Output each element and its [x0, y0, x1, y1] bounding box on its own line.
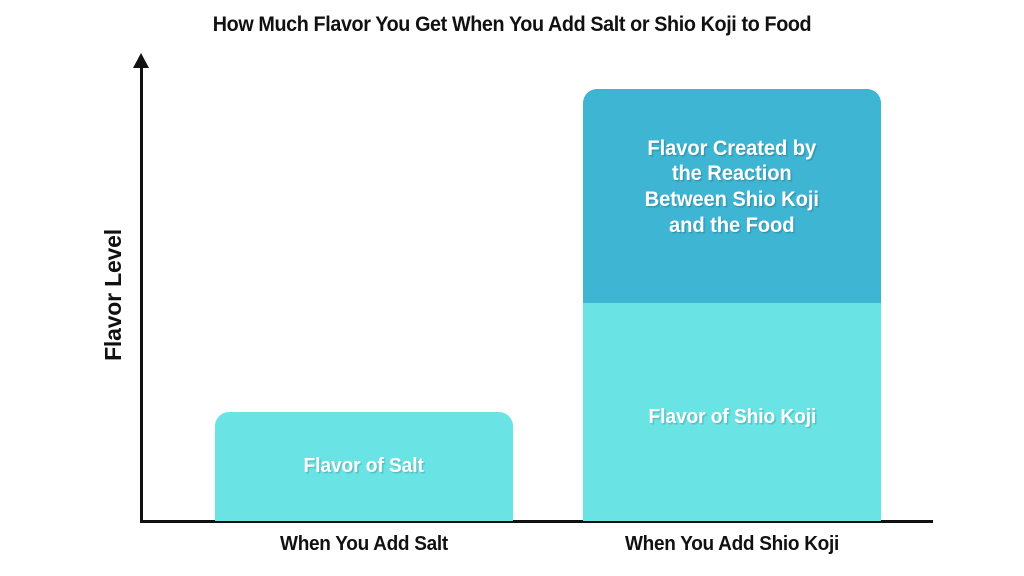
- reaction-label-line-4: and the Food: [645, 213, 819, 239]
- x-axis-label-shio-koji: When You Add Shio Koji: [590, 533, 873, 556]
- chart-title: How Much Flavor You Get When You Add Sal…: [31, 13, 994, 37]
- bar-label-flavor-of-salt: Flavor of Salt: [294, 454, 433, 478]
- bar-salt[interactable]: Flavor of Salt: [215, 412, 513, 521]
- bar-segment-shio-koji-base[interactable]: Flavor of Shio Koji: [583, 303, 881, 521]
- y-axis-label: Flavor Level: [100, 165, 127, 425]
- bar-segment-shio-koji-reaction[interactable]: Flavor Created by the Reaction Between S…: [583, 89, 881, 303]
- plot-area: Flavor of Salt Flavor Created by the Rea…: [143, 60, 933, 521]
- bar-label-flavor-created-by-reaction: Flavor Created by the Reaction Between S…: [635, 136, 828, 238]
- reaction-label-line-3: Between Shio Koji: [645, 187, 819, 213]
- bar-segment-salt-base[interactable]: Flavor of Salt: [215, 412, 513, 521]
- x-axis-label-salt: When You Add Salt: [222, 533, 505, 556]
- reaction-label-line-2: the Reaction: [645, 161, 819, 187]
- reaction-label-line-1: Flavor Created by: [645, 136, 819, 162]
- bar-shio-koji[interactable]: Flavor Created by the Reaction Between S…: [583, 89, 881, 521]
- flavor-comparison-chart: How Much Flavor You Get When You Add Sal…: [0, 0, 1024, 576]
- bar-label-flavor-of-shio-koji: Flavor of Shio Koji: [639, 405, 826, 429]
